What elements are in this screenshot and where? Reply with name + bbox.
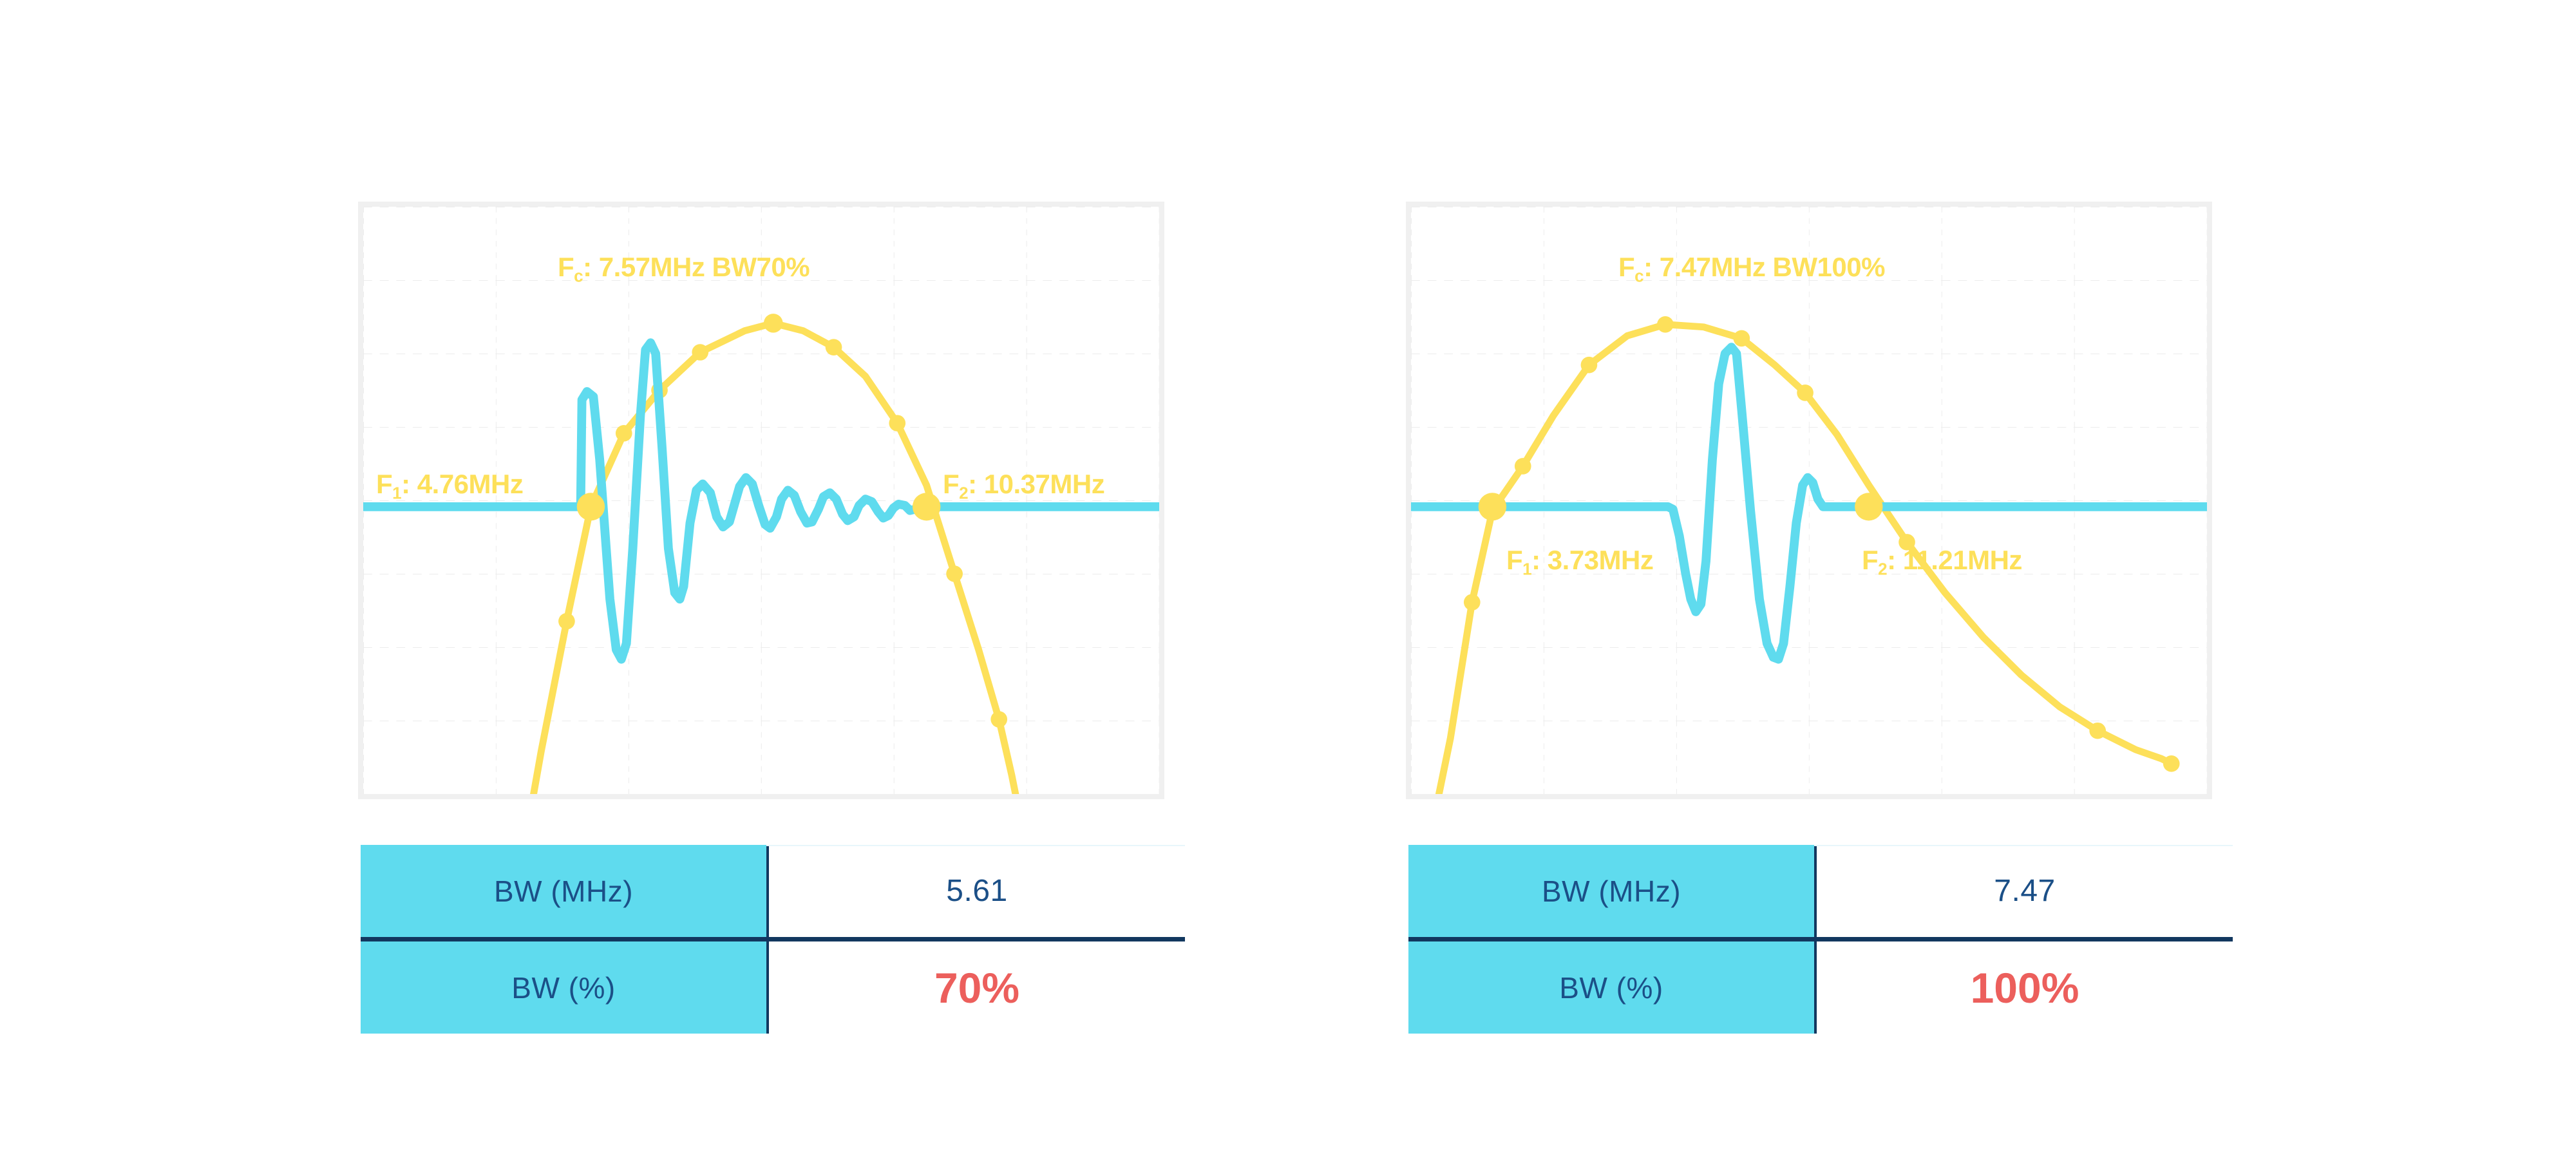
annotation-f2-right: F2: 11.21MHz [1862, 547, 2022, 577]
bw-mhz-label-right: BW (MHz) [1408, 845, 1815, 940]
bw-pct-label-right: BW (%) [1408, 940, 1815, 1034]
f1-marker-left [577, 493, 605, 520]
table-hairline-left [766, 845, 1185, 846]
f1-subscript-left: 1 [392, 483, 401, 502]
bw-mhz-value-right: 7.47 [1815, 845, 2233, 940]
f1-subscript-right: 1 [1522, 559, 1531, 578]
annotation-fc-right: Fc: 7.47MHz BW100% [1618, 254, 1885, 284]
f2-prefix-right: F [1862, 545, 1878, 575]
bw-mhz-value-left: 5.61 [768, 845, 1185, 940]
fc-prefix-left: F [558, 252, 574, 282]
bw-table-element-left: BW (MHz) 5.61 BW (%) 70% [361, 845, 1185, 1034]
bw-pct-value-right: 100% [1815, 940, 2233, 1034]
f1-text-right: : 3.73MHz [1531, 545, 1653, 575]
annotation-fc-left: Fc: 7.57MHz BW70% [558, 254, 810, 284]
fc-text-right: : 7.47MHz BW100% [1643, 252, 1885, 282]
fc-subscript-right: c [1634, 266, 1643, 285]
fc-prefix-right: F [1618, 252, 1634, 282]
f1-marker-right [1479, 493, 1506, 520]
bw-table-right: BW (MHz) 7.47 BW (%) 100% [1408, 845, 2233, 1030]
f2-subscript-left: 2 [959, 483, 968, 502]
f2-marker-right [1855, 493, 1882, 520]
panel-group-right: Fc: 7.47MHz BW100% F1: 3.73MHz F2: 11.21… [1357, 0, 2259, 1154]
fc-subscript-left: c [574, 266, 583, 285]
f2-text-right: : 11.21MHz [1887, 545, 2022, 575]
bw-pct-value-left: 70% [768, 940, 1185, 1034]
screenshot-root: Fc: 7.57MHz BW70% F1: 4.76MHz F2: 10.37M… [0, 0, 2576, 1154]
f1-text-left: : 4.76MHz [401, 469, 523, 499]
bw-table-element-right: BW (MHz) 7.47 BW (%) 100% [1408, 845, 2233, 1034]
f2-prefix-left: F [943, 469, 959, 499]
panel-group-left: Fc: 7.57MHz BW70% F1: 4.76MHz F2: 10.37M… [309, 0, 1211, 1154]
table-row: BW (%) 100% [1408, 940, 2233, 1034]
f1-prefix-left: F [376, 469, 392, 499]
chart-svg-right [1411, 207, 2207, 794]
bw-mhz-label-left: BW (MHz) [361, 845, 768, 940]
annotation-f1-right: F1: 3.73MHz [1506, 547, 1653, 577]
chart-frame-left: Fc: 7.57MHz BW70% F1: 4.76MHz F2: 10.37M… [358, 202, 1164, 799]
annotation-f1-left: F1: 4.76MHz [376, 471, 523, 501]
f2-marker-left [913, 493, 940, 520]
chart-frame-right: Fc: 7.47MHz BW100% F1: 3.73MHz F2: 11.21… [1406, 202, 2212, 799]
gridlines-right [1411, 207, 2207, 794]
f1-prefix-right: F [1506, 545, 1522, 575]
f2-subscript-right: 2 [1878, 559, 1887, 578]
annotation-f2-left: F2: 10.37MHz [943, 471, 1104, 501]
chart-plot-right [1411, 207, 2207, 794]
table-row: BW (MHz) 5.61 [361, 845, 1185, 940]
fc-text-left: : 7.57MHz BW70% [583, 252, 810, 282]
table-hairline-right [1814, 845, 2233, 846]
bw-pct-label-left: BW (%) [361, 940, 768, 1034]
table-row: BW (MHz) 7.47 [1408, 845, 2233, 940]
bw-table-left: BW (MHz) 5.61 BW (%) 70% [361, 845, 1185, 1030]
f2-text-left: : 10.37MHz [968, 469, 1104, 499]
table-row: BW (%) 70% [361, 940, 1185, 1034]
